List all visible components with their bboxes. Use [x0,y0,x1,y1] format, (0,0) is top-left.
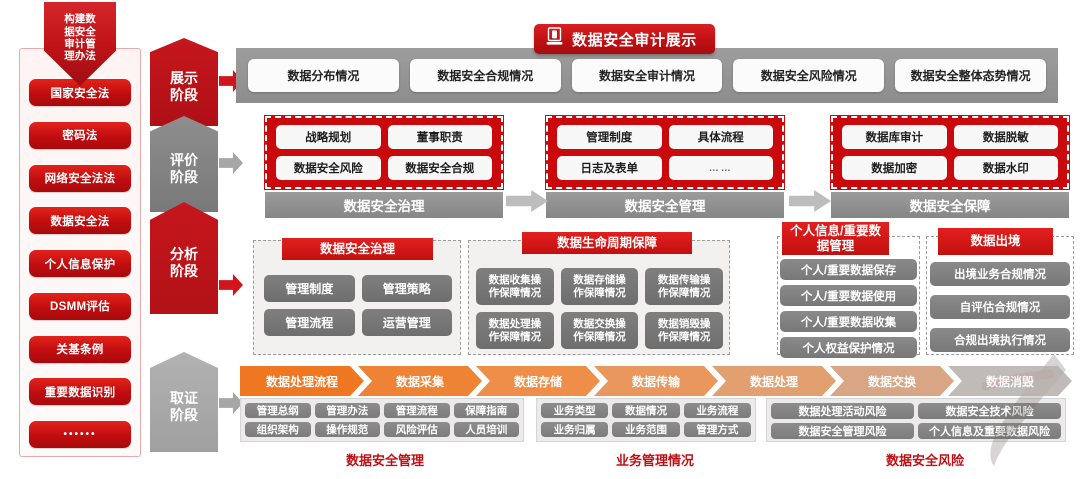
legal-basis-sidebar: 国家安全法密码法网络安全法法数据安全法个人信息保护DSMM评估关基条例重要数据识… [19,48,141,457]
stage-arrow-evaluation-icon [219,152,243,174]
analysis-chip[interactable]: 合规出境执行情况 [930,328,1070,352]
title-badge: 数据安全审计展示 [534,24,715,54]
analysis-header-lifecycle: 数据生命周期保障 [522,232,692,254]
bottom-table-chip[interactable]: 管理流程 [384,403,450,418]
analysis-chip[interactable]: 管理策略 [362,275,453,302]
analysis-chip[interactable]: 个人权益保护情况 [780,337,917,358]
evaluation-chip-box: 数据库审计数据脱敏数据加密数据水印 [831,116,1069,189]
analysis-chip[interactable]: 个人/重要数据收集 [780,311,917,332]
analysis-chip[interactable]: 数据收集操作保障情况 [476,268,554,305]
stage-display[interactable]: 展示阶段 [150,38,218,126]
analysis-chip[interactable]: 运营管理 [362,309,453,336]
stage-analysis[interactable]: 分析阶段 [150,202,218,314]
stage-forensics[interactable]: 取证阶段 [150,352,218,452]
display-card[interactable]: 数据安全风险情况 [733,59,884,92]
stage-analysis-label: 分析阶段 [170,236,198,279]
evaluation-footer: 数据安全保障 [831,192,1069,218]
analysis-chip[interactable]: 数据销毁操作保障情况 [645,312,723,349]
analysis-grid-cross-border: 出境业务合规情况自评估合规情况合规出境执行情况 [930,262,1070,352]
evaluation-chip[interactable]: 数据安全风险 [276,156,381,180]
display-card[interactable]: 数据分布情况 [248,59,399,92]
evaluation-flow-arrow-icon [506,190,548,212]
analysis-chip[interactable]: 数据处理操作保障情况 [476,312,554,349]
forensics-chevron-flow: 数据处理流程数据采集数据存储数据传输数据处理数据交换数据消毁 [240,366,1066,396]
bottom-table-chip[interactable]: 个人信息及重要数据风险 [918,423,1061,439]
title-badge-label: 数据安全审计展示 [572,29,697,50]
analysis-chip[interactable]: 自评估合规情况 [930,295,1070,319]
evaluation-chip[interactable]: …… [669,156,774,180]
forensics-chevron[interactable]: 数据存储 [476,366,600,396]
evaluation-chip[interactable]: 数据加密 [842,156,947,180]
display-card[interactable]: 数据安全审计情况 [572,59,723,92]
forensics-chevron[interactable]: 数据传输 [594,366,718,396]
stage-display-label: 展示阶段 [170,60,198,103]
evaluation-chip[interactable]: 数据安全合规 [388,156,493,180]
analysis-chip[interactable]: 出境业务合规情况 [930,262,1070,286]
display-stage-row: 数据分布情况数据安全合规情况数据安全审计情况数据安全风险情况数据安全整体态势情况 [236,48,1058,103]
bottom-table-chip[interactable]: 数据安全管理风险 [771,423,914,439]
bottom-table-chip[interactable]: 业务流程 [684,403,751,418]
evaluation-chip[interactable]: 数据脱敏 [954,125,1059,149]
bottom-table-chip[interactable]: 管理总纲 [245,403,311,418]
stage-evaluation-label: 评价阶段 [170,142,198,185]
evaluation-chip[interactable]: 董事职责 [388,125,493,149]
forensics-chevron[interactable]: 数据采集 [358,366,482,396]
evaluation-chip[interactable]: 管理制度 [557,125,662,149]
bottom-label-security-management: 数据安全管理 [300,450,470,469]
law-chip[interactable]: 密码法 [29,122,131,149]
shield-label: 构建数据安全审计管理办法 [57,13,103,75]
evaluation-chip[interactable]: 数据库审计 [842,125,947,149]
bottom-table-chip[interactable]: 业务归属 [541,422,608,437]
bottom-table-chip[interactable]: 业务范围 [612,422,679,437]
evaluation-chip[interactable]: 日志及表单 [557,156,662,180]
display-card[interactable]: 数据安全整体态势情况 [895,59,1046,92]
evaluation-group-governance: 战略规划董事职责数据安全风险数据安全合规 数据安全治理 [265,116,503,218]
evaluation-chip[interactable]: 战略规划 [276,125,381,149]
evaluation-footer: 数据安全治理 [265,192,503,218]
forensics-chevron[interactable]: 数据处理流程 [240,366,364,396]
evaluation-chip-box: 管理制度具体流程日志及表单…… [546,116,784,189]
evaluation-chip[interactable]: 具体流程 [669,125,774,149]
analysis-grid-lifecycle: 数据收集操作保障情况数据存储操作保障情况数据传输操作保障情况数据处理操作保障情况… [476,268,723,349]
law-chip[interactable]: 网络安全法法 [29,165,131,192]
analysis-chip[interactable]: 数据交换操作保障情况 [561,312,639,349]
bottom-table-chip[interactable]: 人员培训 [454,422,520,437]
analysis-grid-governance: 管理制度管理策略管理流程运营管理 [264,275,452,336]
bottom-table-chip[interactable]: 保障指南 [454,403,520,418]
evaluation-flow-arrow-icon [789,190,831,212]
forensics-chevron[interactable]: 数据交换 [830,366,954,396]
analysis-header-personal-info: 个人信息/重要数据管理 [782,222,889,255]
bottom-table-business-management: 业务类型数据情况业务流程业务归属业务范围管理方式 [536,398,756,442]
bottom-table-chip[interactable]: 数据处理活动风险 [771,403,914,419]
analysis-chip[interactable]: 管理流程 [264,309,355,336]
bottom-table-chip[interactable]: 管理方式 [684,422,751,437]
analysis-grid-personal-info: 个人/重要数据保存个人/重要数据使用个人/重要数据收集个人权益保护情况 [780,259,917,358]
evaluation-group-management: 管理制度具体流程日志及表单…… 数据安全管理 [546,116,784,218]
evaluation-chip-box: 战略规划董事职责数据安全风险数据安全合规 [265,116,503,189]
stage-arrow-analysis-icon [219,274,243,296]
monitor-icon [546,27,563,51]
bottom-table-chip[interactable]: 组织架构 [245,422,311,437]
law-chip[interactable]: •••••• [29,421,131,448]
law-chip[interactable]: 重要数据识别 [29,378,131,405]
bottom-table-chip[interactable]: 数据情况 [612,403,679,418]
bottom-label-business-management: 业务管理情况 [570,450,740,469]
evaluation-footer: 数据安全管理 [546,192,784,218]
diagram-canvas: 构建数据安全审计管理办法 国家安全法密码法网络安全法法数据安全法个人信息保护DS… [0,0,1080,479]
display-card[interactable]: 数据安全合规情况 [410,59,561,92]
analysis-chip[interactable]: 管理制度 [264,275,355,302]
analysis-chip[interactable]: 数据存储操作保障情况 [561,268,639,305]
bottom-table-chip[interactable]: 风险评估 [384,422,450,437]
bottom-table-chip[interactable]: 操作规范 [315,422,381,437]
bottom-table-chip[interactable]: 管理办法 [315,403,381,418]
evaluation-group-assurance: 数据库审计数据脱敏数据加密数据水印 数据安全保障 [831,116,1069,218]
forensics-chevron[interactable]: 数据处理 [712,366,836,396]
bottom-table-chip[interactable]: 数据安全技术风险 [918,403,1061,419]
law-chip[interactable]: DSMM评估 [29,293,131,320]
bottom-table-chip[interactable]: 业务类型 [541,403,608,418]
bottom-label-security-risk: 数据安全风险 [840,450,1010,469]
analysis-chip[interactable]: 个人/重要数据使用 [780,285,917,306]
bottom-table-security-management: 管理总纲管理办法管理流程保障指南组织架构操作规范风险评估人员培训 [240,398,524,442]
evaluation-chip[interactable]: 数据水印 [954,156,1059,180]
stage-evaluation[interactable]: 评价阶段 [150,116,218,212]
analysis-chip[interactable]: 个人/重要数据保存 [780,259,917,280]
analysis-chip[interactable]: 数据传输操作保障情况 [645,268,723,305]
analysis-header-governance: 数据安全治理 [282,238,433,260]
law-chip[interactable]: 个人信息保护 [29,250,131,277]
analysis-header-cross-border: 数据出境 [938,228,1053,255]
forensics-chevron[interactable]: 数据消毁 [948,366,1072,396]
bottom-table-security-risk: 数据处理活动风险数据安全技术风险数据安全管理风险个人信息及重要数据风险 [766,398,1066,442]
law-chip[interactable]: 关基条例 [29,336,131,363]
stage-forensics-label: 取证阶段 [170,380,198,423]
law-chip[interactable]: 数据安全法 [29,207,131,234]
